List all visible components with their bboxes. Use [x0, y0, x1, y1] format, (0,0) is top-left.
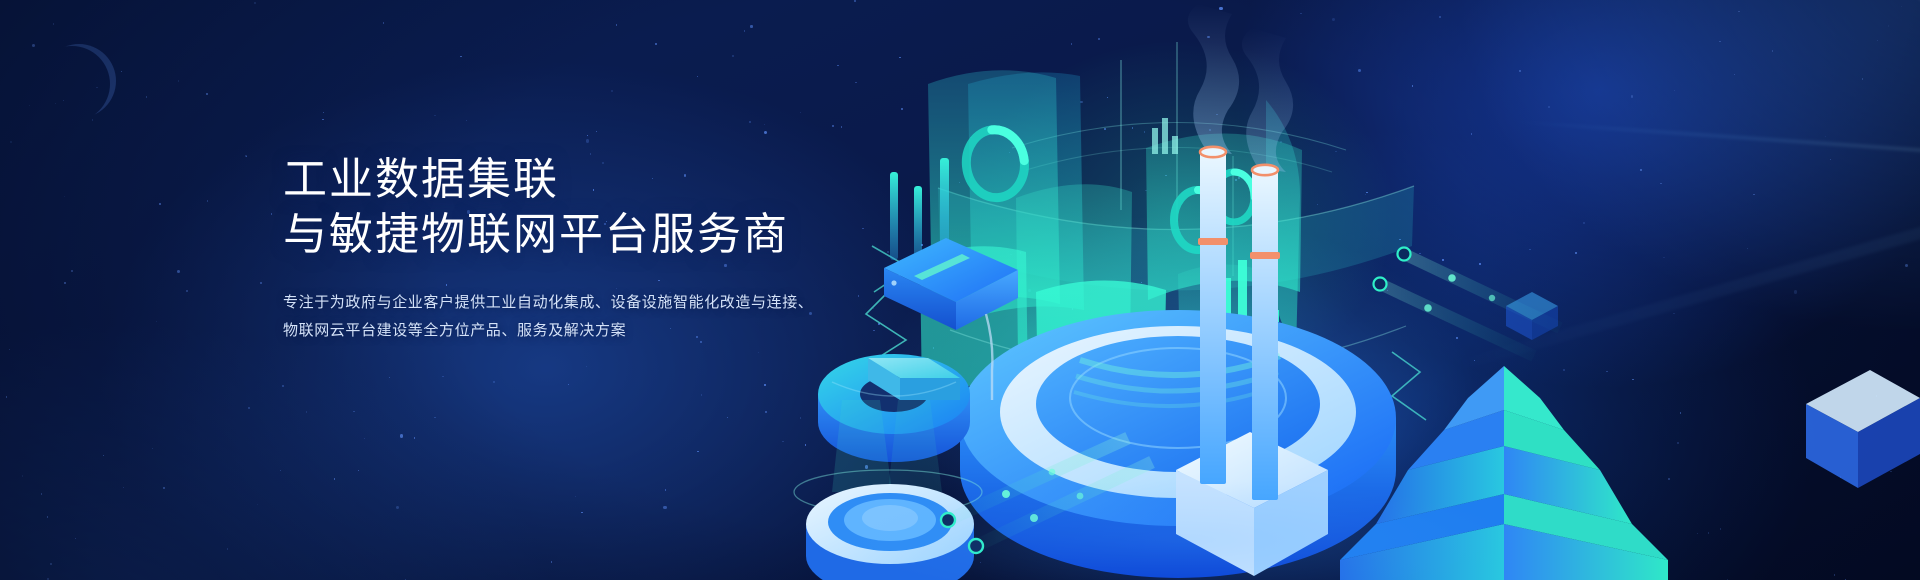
subtitle-line-1: 专注于为政府与企业客户提供工业自动化集成、设备设施智能化改造与连接、: [283, 289, 923, 317]
hero-text-block: 工业数据集联 与敏捷物联网平台服务商 专注于为政府与企业客户提供工业自动化集成、…: [283, 152, 923, 344]
cube-block: [1806, 370, 1920, 488]
smokestack: [1252, 170, 1278, 500]
pie-slice-exploded-right: [900, 378, 960, 400]
smokestack-cap: [1252, 165, 1278, 175]
hero-banner: 工业数据集联 与敏捷物联网平台服务商 专注于为政府与企业客户提供工业自动化集成、…: [0, 0, 1920, 580]
headline-line-1: 工业数据集联: [283, 152, 923, 207]
smokestack-band: [1250, 252, 1280, 259]
hero-illustration: [780, 0, 1920, 580]
smokestack-cap: [1200, 147, 1226, 157]
tower-rail: [1120, 60, 1122, 210]
headline-line-2: 与敏捷物联网平台服务商: [283, 207, 923, 262]
node-cube: [1506, 292, 1558, 340]
subtitle-line-2: 物联网云平台建设等全方位产品、服务及解决方案: [283, 317, 923, 345]
smokestack-band: [1198, 238, 1228, 245]
smokestack: [1200, 152, 1226, 484]
